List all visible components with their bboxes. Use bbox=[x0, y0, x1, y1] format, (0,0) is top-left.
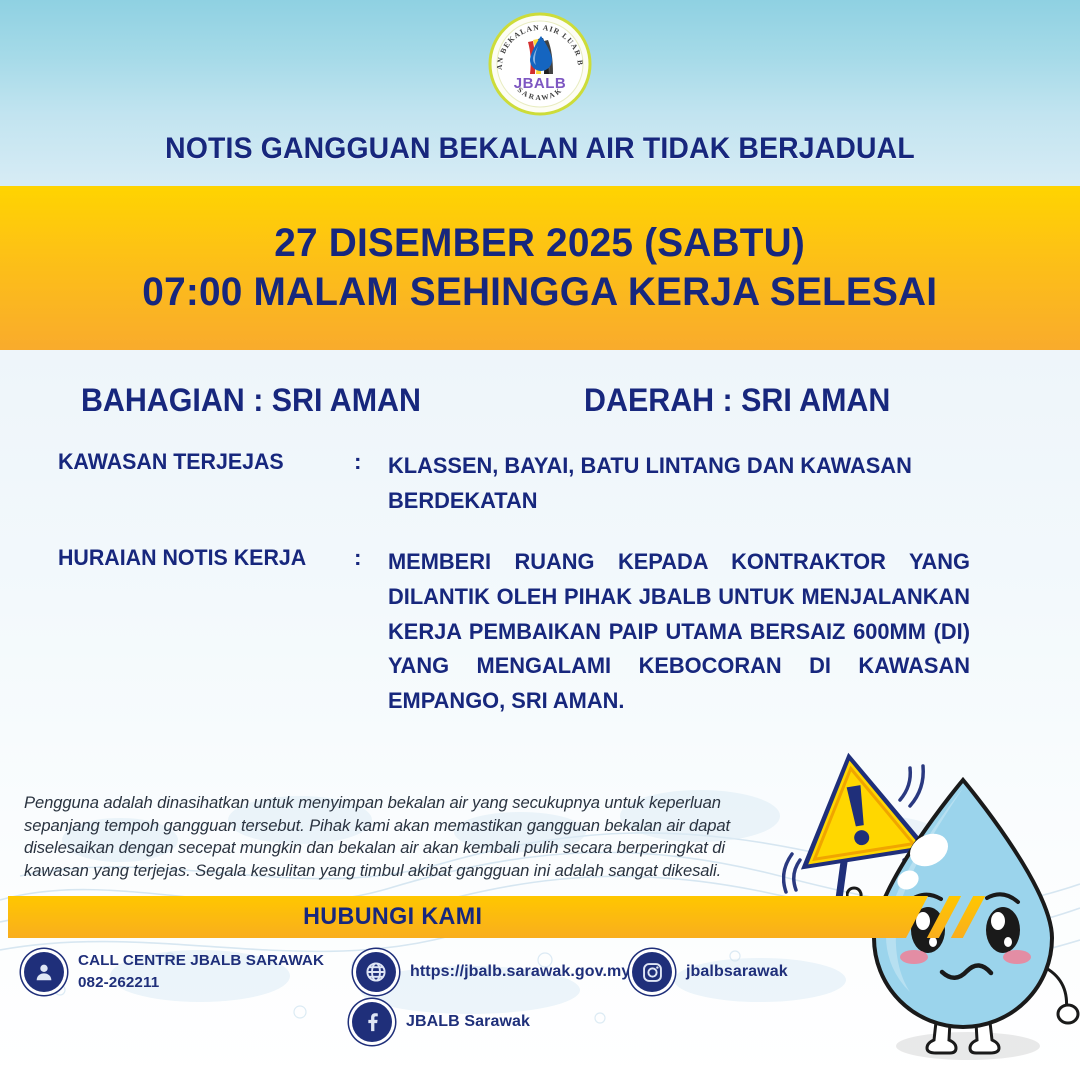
affected-area-line-1: KLASSEN, BAYAI, BATU LINTANG DAN KAWASAN bbox=[388, 453, 912, 478]
notice-date: 27 DISEMBER 2025 (SABTU) bbox=[275, 221, 806, 266]
contact-bar-wrapper: HUBUNGI KAMI bbox=[0, 896, 1080, 938]
call-centre-name: CALL CENTRE JBALB SARAWAK bbox=[78, 950, 324, 972]
page-title: NOTIS GANGGUAN BEKALAN AIR TIDAK BERJADU… bbox=[22, 132, 1059, 166]
work-description-line-4: YANG MENGALAMI KEBOCORAN DI KAWASAN bbox=[388, 649, 970, 684]
contact-list: CALL CENTRE JBALB SARAWAK 082-262211 htt… bbox=[0, 944, 1080, 1064]
work-description-line-3: KERJA PEMBAIKAN PAIP UTAMA BERSAIZ 600MM… bbox=[388, 615, 970, 650]
jbalb-logo: JABATAN BEKALAN AIR LUAR BANDAR SARAWAK … bbox=[488, 12, 592, 116]
work-description-line-1: MEMBERI RUANG KEPADA KONTRAKTOR YANG bbox=[388, 545, 970, 580]
facebook-handle: JBALB Sarawak bbox=[406, 1011, 530, 1034]
person-icon bbox=[24, 952, 64, 992]
work-description-line-5: EMPANGO, SRI AMAN. bbox=[388, 684, 970, 719]
contact-instagram[interactable]: jbalbsarawak bbox=[632, 952, 788, 992]
globe-icon bbox=[356, 952, 396, 992]
contact-bar-title: HUBUNGI KAMI bbox=[303, 903, 482, 931]
work-description-value: MEMBERI RUANG KEPADA KONTRAKTOR YANG DIL… bbox=[388, 545, 970, 719]
contact-call-centre[interactable]: CALL CENTRE JBALB SARAWAK 082-262211 bbox=[24, 950, 324, 993]
notice-poster: JABATAN BEKALAN AIR LUAR BANDAR SARAWAK … bbox=[0, 0, 1080, 1080]
affected-area-label: KAWASAN TERJEJAS bbox=[58, 449, 339, 519]
daerah-label: DAERAH : SRI AMAN bbox=[584, 382, 890, 419]
instagram-handle: jbalbsarawak bbox=[686, 961, 788, 984]
affected-area-value: KLASSEN, BAYAI, BATU LINTANG DAN KAWASAN… bbox=[388, 449, 970, 519]
facebook-icon bbox=[352, 1002, 392, 1042]
affected-area-colon: : bbox=[354, 449, 388, 519]
website-url: https://jbalb.sarawak.gov.my/ bbox=[410, 961, 635, 984]
call-centre-phone: 082-262211 bbox=[78, 972, 324, 994]
date-banner: 27 DISEMBER 2025 (SABTU) 07:00 MALAM SEH… bbox=[0, 186, 1080, 350]
bahagian-label: BAHAGIAN : SRI AMAN bbox=[81, 382, 421, 419]
contact-bar: HUBUNGI KAMI bbox=[8, 896, 928, 938]
work-description-label: HURAIAN NOTIS KERJA bbox=[58, 545, 339, 719]
svg-text:JBALB: JBALB bbox=[514, 75, 567, 92]
work-description-colon: : bbox=[354, 545, 388, 719]
affected-area-line-2: BERDEKATAN bbox=[388, 488, 538, 513]
work-description-block: HURAIAN NOTIS KERJA : MEMBERI RUANG KEPA… bbox=[0, 545, 1080, 719]
poster-header: JABATAN BEKALAN AIR LUAR BANDAR SARAWAK … bbox=[0, 0, 1080, 186]
disclaimer-text: Pengguna adalah dinasihatkan untuk menyi… bbox=[24, 792, 768, 882]
affected-area-block: KAWASAN TERJEJAS : KLASSEN, BAYAI, BATU … bbox=[0, 449, 1080, 519]
notice-time: 07:00 MALAM SEHINGGA KERJA SELESAI bbox=[143, 270, 938, 315]
contact-facebook[interactable]: JBALB Sarawak bbox=[352, 1002, 530, 1042]
instagram-icon bbox=[632, 952, 672, 992]
contact-website[interactable]: https://jbalb.sarawak.gov.my/ bbox=[356, 952, 635, 992]
call-centre-text: CALL CENTRE JBALB SARAWAK 082-262211 bbox=[78, 950, 324, 993]
region-row: BAHAGIAN : SRI AMAN DAERAH : SRI AMAN bbox=[0, 350, 1080, 419]
work-description-line-2: DILANTIK OLEH PIHAK JBALB UNTUK MENJALAN… bbox=[388, 580, 970, 615]
